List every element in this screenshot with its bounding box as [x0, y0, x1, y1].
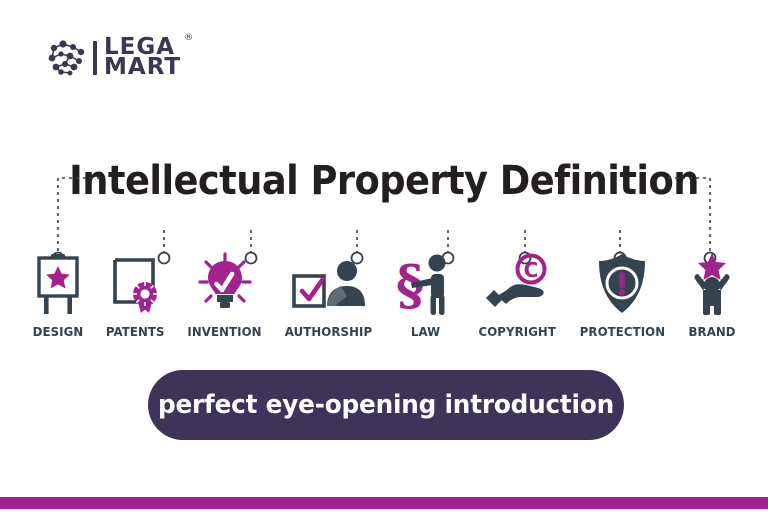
person-raising-star-icon — [686, 252, 738, 316]
icon-art-authorship — [291, 250, 367, 316]
icon-label-protection: PROTECTION — [579, 324, 664, 339]
node-cluster-icon — [48, 40, 86, 76]
icon-art-protection — [595, 250, 649, 316]
icon-label-patents: PATENTS — [106, 324, 165, 339]
ip-category-law[interactable]: § LAW — [394, 250, 458, 339]
logo-wordmark: LEGA MART ® — [104, 38, 181, 78]
logo-divider-bar — [93, 41, 97, 75]
shield-exclamation-icon — [595, 252, 649, 316]
icon-art-copyright: C — [483, 250, 551, 316]
checkbox-person-icon — [291, 252, 367, 316]
cta-button-label: perfect eye-opening introduction — [158, 390, 614, 420]
poster-canvas: LEGA MART ® Intellectual Property Defini… — [0, 0, 768, 512]
icon-art-brand — [686, 250, 738, 316]
icon-label-invention: INVENTION — [187, 324, 261, 339]
icon-label-authorship: AUTHORSHIP — [285, 324, 372, 339]
icon-art-invention — [196, 250, 254, 316]
page-title: Intellectual Property Definition — [31, 158, 738, 204]
ip-category-brand[interactable]: BRAND — [686, 250, 738, 339]
icon-label-design: DESIGN — [33, 324, 84, 339]
logo-word-mart: MART — [104, 58, 181, 78]
registered-trademark-icon: ® — [184, 35, 193, 43]
section-sign-person-icon: § — [394, 252, 458, 316]
easel-star-icon — [30, 252, 86, 316]
ip-category-patents[interactable]: PATENTS — [104, 250, 166, 339]
cta-button[interactable]: perfect eye-opening introduction — [148, 370, 624, 440]
icon-label-law: LAW — [411, 324, 440, 339]
icon-art-design — [30, 250, 86, 316]
icon-label-copyright: COPYRIGHT — [478, 324, 555, 339]
icon-art-law: § — [394, 250, 458, 316]
legamart-logo[interactable]: LEGA MART ® — [48, 38, 181, 78]
hand-copyright-icon: C — [483, 252, 551, 316]
ip-category-protection[interactable]: PROTECTION — [577, 250, 668, 339]
ip-category-design[interactable]: DESIGN — [30, 250, 86, 339]
ip-category-row: DESIGN — [30, 250, 738, 339]
svg-text:C: C — [524, 258, 539, 282]
document-award-ribbon-icon — [108, 252, 164, 316]
lightbulb-check-icon — [196, 252, 254, 316]
icon-art-patents — [108, 250, 164, 316]
ip-category-authorship[interactable]: AUTHORSHIP — [282, 250, 375, 339]
ip-category-copyright[interactable]: C COPYRIGHT — [476, 250, 558, 339]
footer-accent-bar — [0, 497, 768, 509]
ip-category-invention[interactable]: INVENTION — [185, 250, 264, 339]
icon-label-brand: BRAND — [688, 324, 735, 339]
